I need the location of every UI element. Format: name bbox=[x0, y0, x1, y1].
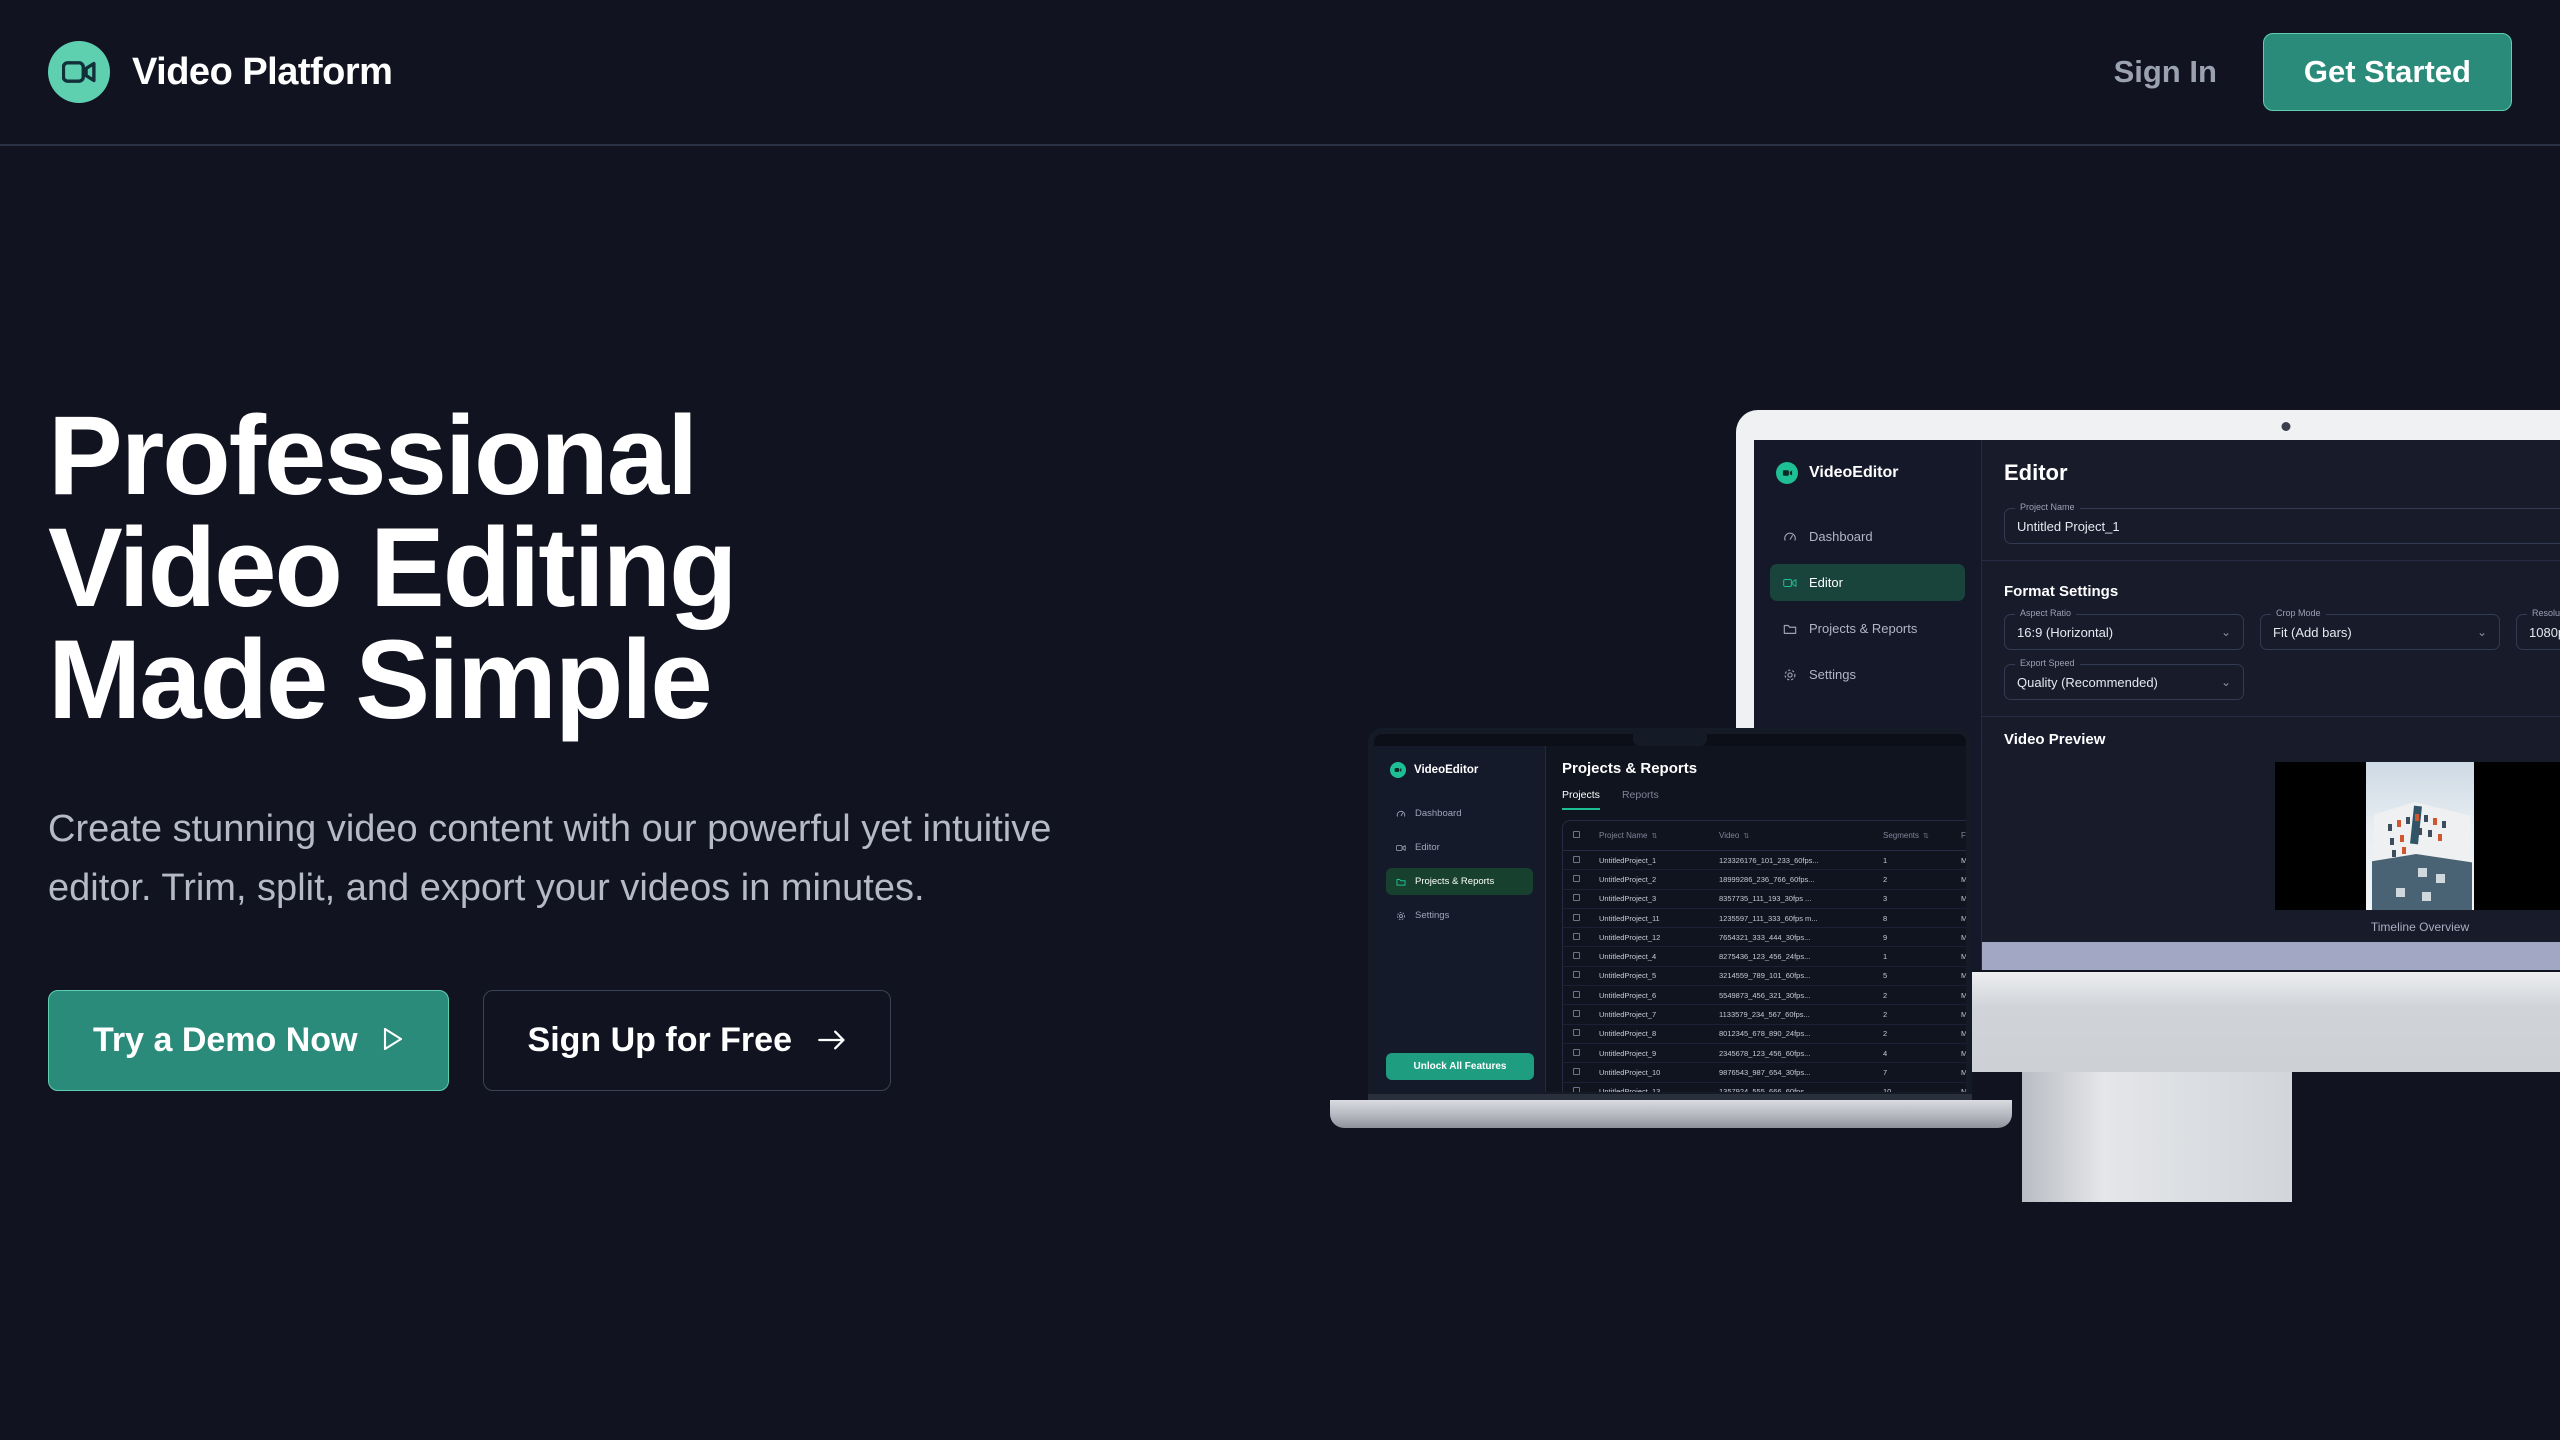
project-name-field[interactable]: Project Name Untitled Project_1 bbox=[2004, 508, 2560, 544]
cell-video: 8012345_678_890_24fps... bbox=[1719, 1029, 1883, 1038]
laptop-device: VideoEditor Dashboard Editor Projec bbox=[1330, 728, 2012, 1128]
laptop-brand-label: VideoEditor bbox=[1414, 764, 1478, 776]
cell-video: 1357924_555_666_60fps ... bbox=[1719, 1087, 1883, 1092]
cell-segments: 10 bbox=[1883, 1087, 1961, 1092]
export-speed-label: Export Speed bbox=[2015, 658, 2080, 668]
editor-brand: VideoEditor bbox=[1770, 462, 1965, 484]
cell-project-name: UntitledProject_11 bbox=[1599, 914, 1719, 923]
sign-up-label: Sign Up for Free bbox=[528, 1021, 792, 1060]
laptop-page-title: Projects & Reports bbox=[1562, 760, 1966, 777]
cell-video: 9876543_987_654_30fps... bbox=[1719, 1068, 1883, 1077]
table-row[interactable]: UntitledProject_53214559_789_101_60fps..… bbox=[1563, 967, 1966, 986]
row-checkbox[interactable] bbox=[1573, 971, 1599, 980]
cell-format: MP4 bbox=[1961, 1029, 1966, 1038]
cell-video: 8357735_111_193_30fps ... bbox=[1719, 894, 1883, 903]
cell-segments: 9 bbox=[1883, 933, 1961, 942]
cell-format: MP4 bbox=[1961, 971, 1966, 980]
row-checkbox[interactable] bbox=[1573, 1087, 1599, 1092]
folder-icon bbox=[1395, 876, 1406, 887]
resolution-select[interactable]: Resolution 1080p (1920x1080) ⌄ bbox=[2516, 614, 2560, 650]
table-body: UntitledProject_1123326176_101_233_60fps… bbox=[1563, 851, 1966, 1092]
laptop-lid: VideoEditor Dashboard Editor Projec bbox=[1368, 728, 1972, 1098]
cell-format: MP4 bbox=[1961, 894, 1966, 903]
sidebar-item-editor[interactable]: Editor bbox=[1386, 834, 1533, 861]
gear-icon bbox=[1782, 667, 1797, 682]
cell-video: 5549873_456_321_30fps... bbox=[1719, 991, 1883, 1000]
sidebar-label: Projects & Reports bbox=[1415, 876, 1494, 887]
sidebar-label: Settings bbox=[1809, 667, 1856, 682]
table-row[interactable]: UntitledProject_111235597_111_333_60fps … bbox=[1563, 909, 1966, 928]
sidebar-item-editor[interactable]: Editor bbox=[1770, 564, 1965, 601]
cell-project-name: UntitledProject_8 bbox=[1599, 1029, 1719, 1038]
sidebar-label: Dashboard bbox=[1809, 529, 1873, 544]
laptop-sidebar: VideoEditor Dashboard Editor Projec bbox=[1374, 746, 1546, 1092]
cell-format: MP4 bbox=[1961, 1087, 1966, 1092]
site-header: Video Platform Sign In Get Started bbox=[0, 0, 2560, 146]
video-camera-icon bbox=[1782, 575, 1797, 590]
cell-format: MP4 bbox=[1961, 952, 1966, 961]
column-segments[interactable]: Segments⇅ bbox=[1883, 831, 1961, 840]
project-name-value: Untitled Project_1 bbox=[2017, 519, 2120, 534]
header-nav: Sign In Get Started bbox=[2114, 33, 2512, 111]
sidebar-item-projects-reports[interactable]: Projects & Reports bbox=[1770, 610, 1965, 647]
tab-reports[interactable]: Reports bbox=[1622, 789, 1659, 810]
sidebar-item-projects-reports[interactable]: Projects & Reports bbox=[1386, 868, 1533, 895]
table-row[interactable]: UntitledProject_92345678_123_456_60fps..… bbox=[1563, 1044, 1966, 1063]
table-row[interactable]: UntitledProject_1123326176_101_233_60fps… bbox=[1563, 851, 1966, 870]
crop-mode-select[interactable]: Crop Mode Fit (Add bars) ⌄ bbox=[2260, 614, 2500, 650]
sort-icon: ⇅ bbox=[1923, 832, 1929, 840]
gauge-icon bbox=[1782, 529, 1797, 544]
table-row[interactable]: UntitledProject_48275436_123_456_24fps..… bbox=[1563, 947, 1966, 966]
cell-project-name: UntitledProject_12 bbox=[1599, 933, 1719, 942]
table-row[interactable]: UntitledProject_218999286_236_766_60fps.… bbox=[1563, 870, 1966, 889]
projects-table: Project Name⇅ Video⇅ Segments⇅ Format⇅ S… bbox=[1562, 820, 1966, 1092]
video-camera-icon bbox=[1395, 842, 1406, 853]
row-checkbox[interactable] bbox=[1573, 991, 1599, 1000]
cell-segments: 3 bbox=[1883, 894, 1961, 903]
cell-video: 7654321_333_444_30fps... bbox=[1719, 933, 1883, 942]
format-settings-title: Format Settings bbox=[2004, 583, 2560, 600]
video-preview-title: Video Preview bbox=[2004, 731, 2560, 748]
laptop-brand: VideoEditor bbox=[1386, 762, 1533, 778]
cell-video: 123326176_101_233_60fps... bbox=[1719, 856, 1883, 865]
sidebar-label: Editor bbox=[1415, 842, 1440, 853]
editor-main: Editor Save Exp Project Name Untitle bbox=[1982, 440, 2560, 970]
row-checkbox[interactable] bbox=[1573, 894, 1599, 903]
cell-format: MP4 bbox=[1961, 1010, 1966, 1019]
unlock-all-features-button[interactable]: Unlock All Features bbox=[1386, 1053, 1534, 1080]
cell-project-name: UntitledProject_9 bbox=[1599, 1049, 1719, 1058]
format-fields-row-2: Export Speed Quality (Recommended) ⌄ bbox=[2004, 650, 2560, 700]
cell-segments: 1 bbox=[1883, 952, 1961, 961]
cell-segments: 2 bbox=[1883, 1010, 1961, 1019]
play-triangle-icon bbox=[382, 1021, 404, 1060]
crop-mode-label: Crop Mode bbox=[2271, 608, 2326, 618]
table-header: Project Name⇅ Video⇅ Segments⇅ Format⇅ S… bbox=[1563, 821, 1966, 851]
column-format[interactable]: Format⇅ bbox=[1961, 831, 1966, 840]
chevron-down-icon: ⌄ bbox=[2221, 625, 2231, 639]
cell-segments: 1 bbox=[1883, 856, 1961, 865]
cell-format: MP4 bbox=[1961, 933, 1966, 942]
brand[interactable]: Video Platform bbox=[48, 41, 392, 103]
cell-format: MP4 bbox=[1961, 991, 1966, 1000]
hero-title-line-1: Professional bbox=[48, 400, 1198, 512]
cell-segments: 7 bbox=[1883, 1068, 1961, 1077]
row-checkbox[interactable] bbox=[1573, 1068, 1599, 1077]
cell-video: 1235597_111_333_60fps m... bbox=[1719, 914, 1883, 923]
table-row[interactable]: UntitledProject_71133579_234_567_60fps..… bbox=[1563, 1005, 1966, 1024]
sidebar-item-dashboard[interactable]: Dashboard bbox=[1770, 518, 1965, 555]
cell-video: 3214559_789_101_60fps... bbox=[1719, 971, 1883, 980]
sort-icon: ⇅ bbox=[1743, 832, 1749, 840]
tab-projects[interactable]: Projects bbox=[1562, 789, 1600, 810]
aspect-ratio-value: 16:9 (Horizontal) bbox=[2017, 625, 2113, 640]
divider bbox=[1982, 560, 2560, 561]
editor-page-title: Editor bbox=[2004, 460, 2068, 486]
cell-segments: 2 bbox=[1883, 991, 1961, 1000]
sort-icon: ⇅ bbox=[1651, 832, 1657, 840]
row-checkbox[interactable] bbox=[1573, 914, 1599, 923]
row-checkbox[interactable] bbox=[1573, 856, 1599, 865]
aspect-ratio-label: Aspect Ratio bbox=[2015, 608, 2076, 618]
sidebar-label: Editor bbox=[1809, 575, 1843, 590]
export-speed-select[interactable]: Export Speed Quality (Recommended) ⌄ bbox=[2004, 664, 2244, 700]
video-camera-icon bbox=[1390, 762, 1406, 778]
row-checkbox[interactable] bbox=[1573, 1049, 1599, 1058]
page-title: Professional Video Editing Made Simple bbox=[48, 400, 1198, 736]
chevron-down-icon: ⌄ bbox=[2477, 625, 2487, 639]
row-checkbox[interactable] bbox=[1573, 1029, 1599, 1038]
gauge-icon bbox=[1395, 808, 1406, 819]
cell-format: MP4 bbox=[1961, 914, 1966, 923]
video-camera-icon bbox=[48, 41, 110, 103]
divider bbox=[1982, 716, 2560, 717]
row-checkbox[interactable] bbox=[1573, 1010, 1599, 1019]
projects-app-screen: VideoEditor Dashboard Editor Projec bbox=[1374, 746, 1966, 1092]
device-mockups: VideoEditor Dashboard Editor Projects & … bbox=[1330, 380, 2560, 1220]
chevron-down-icon: ⌄ bbox=[2221, 675, 2231, 689]
table-row[interactable]: UntitledProject_131357924_555_666_60fps … bbox=[1563, 1083, 1966, 1092]
cell-video: 1133579_234_567_60fps... bbox=[1719, 1010, 1883, 1019]
row-checkbox[interactable] bbox=[1573, 933, 1599, 942]
landing-page: Video Platform Sign In Get Started Profe… bbox=[0, 0, 2560, 1440]
table-row[interactable]: UntitledProject_65549873_456_321_30fps..… bbox=[1563, 986, 1966, 1005]
table-row[interactable]: UntitledProject_88012345_678_890_24fps..… bbox=[1563, 1025, 1966, 1044]
webcam-icon bbox=[2282, 422, 2291, 431]
cell-video: 2345678_123_456_60fps... bbox=[1719, 1049, 1883, 1058]
try-demo-button[interactable]: Try a Demo Now bbox=[48, 990, 449, 1091]
cell-video: 18999286_236_766_60fps... bbox=[1719, 875, 1883, 884]
laptop-notch bbox=[1633, 734, 1707, 746]
laptop-base bbox=[1330, 1100, 2012, 1128]
sidebar-label: Settings bbox=[1415, 910, 1449, 921]
cell-segments: 4 bbox=[1883, 1049, 1961, 1058]
table-row[interactable]: UntitledProject_109876543_987_654_30fps.… bbox=[1563, 1063, 1966, 1082]
cell-video: 8275436_123_456_24fps... bbox=[1719, 952, 1883, 961]
table-row[interactable]: UntitledProject_127654321_333_444_30fps.… bbox=[1563, 928, 1966, 947]
video-camera-icon bbox=[1776, 462, 1798, 484]
project-name-label: Project Name bbox=[2015, 502, 2080, 512]
cell-project-name: UntitledProject_1 bbox=[1599, 856, 1719, 865]
video-preview-frame bbox=[2275, 762, 2560, 910]
cell-project-name: UntitledProject_13 bbox=[1599, 1087, 1719, 1092]
column-video[interactable]: Video⇅ bbox=[1719, 831, 1883, 840]
gear-icon bbox=[1395, 910, 1406, 921]
preview-thumbnail bbox=[2366, 762, 2474, 910]
laptop-tabs: Projects Reports bbox=[1562, 789, 1966, 810]
arrow-right-icon bbox=[818, 1021, 846, 1060]
hero-actions: Try a Demo Now Sign Up for Free bbox=[48, 990, 1198, 1091]
timeline-bar[interactable]: 2 bbox=[1982, 942, 2560, 970]
aspect-ratio-select[interactable]: Aspect Ratio 16:9 (Horizontal) ⌄ bbox=[2004, 614, 2244, 650]
resolution-label: Resolution bbox=[2527, 608, 2560, 618]
editor-header: Editor bbox=[2004, 460, 2560, 486]
sign-up-button[interactable]: Sign Up for Free bbox=[483, 990, 891, 1091]
hero-title-line-2: Video Editing bbox=[48, 512, 1198, 624]
editor-brand-label: VideoEditor bbox=[1809, 464, 1899, 482]
row-checkbox[interactable] bbox=[1573, 875, 1599, 884]
try-demo-label: Try a Demo Now bbox=[93, 1021, 358, 1060]
table-row[interactable]: UntitledProject_38357735_111_193_30fps .… bbox=[1563, 890, 1966, 909]
sidebar-label: Dashboard bbox=[1415, 808, 1461, 819]
cell-segments: 2 bbox=[1883, 1029, 1961, 1038]
cell-project-name: UntitledProject_3 bbox=[1599, 894, 1719, 903]
sidebar-item-settings[interactable]: Settings bbox=[1770, 656, 1965, 693]
get-started-button[interactable]: Get Started bbox=[2263, 33, 2512, 111]
row-checkbox[interactable] bbox=[1573, 952, 1599, 961]
cell-format: MP4 bbox=[1961, 1068, 1966, 1077]
column-project-name[interactable]: Project Name⇅ bbox=[1599, 831, 1719, 840]
cell-project-name: UntitledProject_4 bbox=[1599, 952, 1719, 961]
hero-title-line-3: Made Simple bbox=[48, 624, 1198, 736]
cell-project-name: UntitledProject_5 bbox=[1599, 971, 1719, 980]
select-all-checkbox[interactable] bbox=[1573, 831, 1599, 840]
crop-mode-value: Fit (Add bars) bbox=[2273, 625, 2352, 640]
timeline-overview-label: Timeline Overview bbox=[2004, 920, 2560, 934]
cell-project-name: UntitledProject_10 bbox=[1599, 1068, 1719, 1077]
cell-segments: 5 bbox=[1883, 971, 1961, 980]
folder-icon bbox=[1782, 621, 1797, 636]
cell-segments: 2 bbox=[1883, 875, 1961, 884]
cell-project-name: UntitledProject_7 bbox=[1599, 1010, 1719, 1019]
brand-name: Video Platform bbox=[132, 51, 392, 94]
sidebar-item-settings[interactable]: Settings bbox=[1386, 902, 1533, 929]
cell-format: MP4 bbox=[1961, 856, 1966, 865]
hero-section: Professional Video Editing Made Simple C… bbox=[48, 400, 1198, 1091]
format-fields-row-1: Aspect Ratio 16:9 (Horizontal) ⌄ Crop Mo… bbox=[2004, 600, 2560, 650]
sign-in-link[interactable]: Sign In bbox=[2114, 54, 2217, 90]
cell-project-name: UntitledProject_2 bbox=[1599, 875, 1719, 884]
cell-project-name: UntitledProject_6 bbox=[1599, 991, 1719, 1000]
laptop-main: Projects & Reports New Upload Projec bbox=[1546, 746, 1966, 1092]
cell-segments: 8 bbox=[1883, 914, 1961, 923]
sidebar-item-dashboard[interactable]: Dashboard bbox=[1386, 800, 1533, 827]
building-photo bbox=[2366, 762, 2474, 910]
hero-subtitle: Create stunning video content with our p… bbox=[48, 800, 1128, 918]
cell-format: MP4 bbox=[1961, 1049, 1966, 1058]
resolution-value: 1080p (1920x1080) bbox=[2529, 625, 2560, 640]
sidebar-label: Projects & Reports bbox=[1809, 621, 1917, 636]
cell-format: MP4 bbox=[1961, 875, 1966, 884]
monitor-stand bbox=[2022, 1072, 2292, 1202]
export-speed-value: Quality (Recommended) bbox=[2017, 675, 2158, 690]
